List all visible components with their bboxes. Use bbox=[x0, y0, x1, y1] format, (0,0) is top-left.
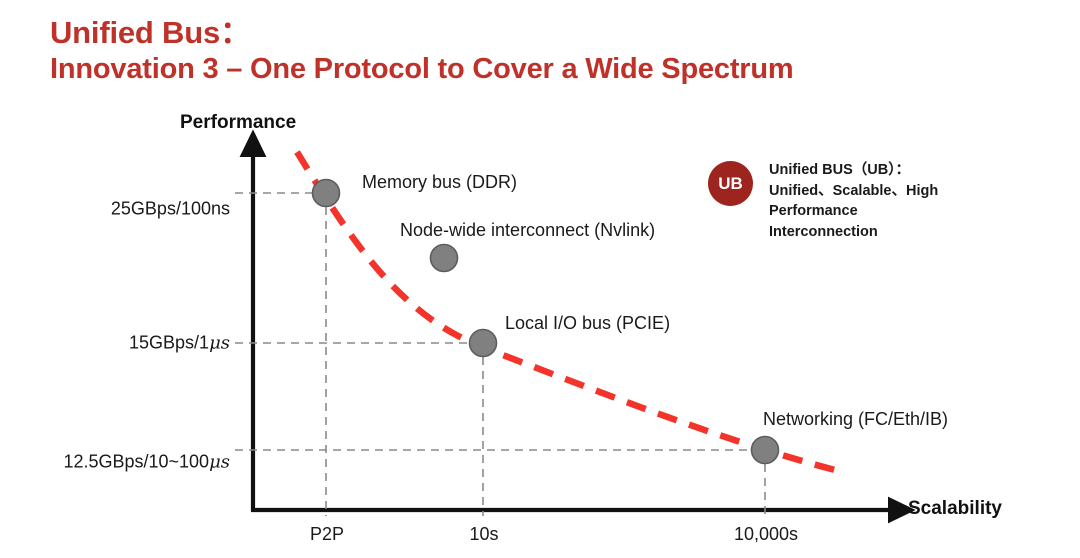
y-axis-title: Performance bbox=[180, 112, 296, 134]
ub-badge-label: UB bbox=[718, 174, 743, 194]
x-tick-label-3: 10,000s bbox=[734, 524, 798, 545]
y-tick-label-3-main: 12.5GBps/10~100 bbox=[63, 452, 209, 472]
legend-text: Unified BUS（UB）： Unified、Scalable、High P… bbox=[769, 160, 944, 242]
y-tick-label-1-main: 25GBps/100ns bbox=[111, 199, 230, 219]
data-point-marker[interactable] bbox=[752, 437, 779, 464]
legend-line-1: Unified BUS（UB）： bbox=[769, 160, 944, 181]
y-tick-label-2: 15GBps/1μs bbox=[30, 333, 230, 354]
x-tick-label-1: P2P bbox=[310, 524, 344, 545]
legend-callout: UB Unified BUS（UB）： Unified、Scalable、Hig… bbox=[708, 160, 944, 242]
point-label-networking: Networking (FC/Eth/IB) bbox=[763, 409, 948, 430]
point-label-node-wide-interconnect: Node-wide interconnect (Nvlink) bbox=[400, 220, 655, 241]
point-label-memory-bus: Memory bus (DDR) bbox=[362, 172, 517, 193]
x-axis-title: Scalability bbox=[908, 498, 1002, 520]
y-tick-label-2-main: 15GBps/1 bbox=[129, 333, 209, 353]
y-tick-label-3-unit: μs bbox=[209, 452, 230, 473]
y-tick-label-2-unit: μs bbox=[209, 333, 230, 354]
point-label-local-io-bus: Local I/O bus (PCIE) bbox=[505, 313, 670, 334]
data-point-marker[interactable] bbox=[470, 330, 497, 357]
data-point-marker[interactable] bbox=[313, 180, 340, 207]
y-tick-label-3: 12.5GBps/10~100μs bbox=[20, 452, 230, 473]
data-point-marker[interactable] bbox=[431, 245, 458, 272]
chart-graphic bbox=[0, 0, 1080, 558]
ub-badge: UB bbox=[708, 161, 753, 206]
slide-canvas: Unified Bus： Innovation 3 – One Protocol… bbox=[0, 0, 1080, 558]
y-tick-label-1: 25GBps/100ns bbox=[30, 199, 230, 220]
x-tick-label-2: 10s bbox=[469, 524, 498, 545]
legend-line-2: Unified、Scalable、High Performance Interc… bbox=[769, 181, 944, 243]
